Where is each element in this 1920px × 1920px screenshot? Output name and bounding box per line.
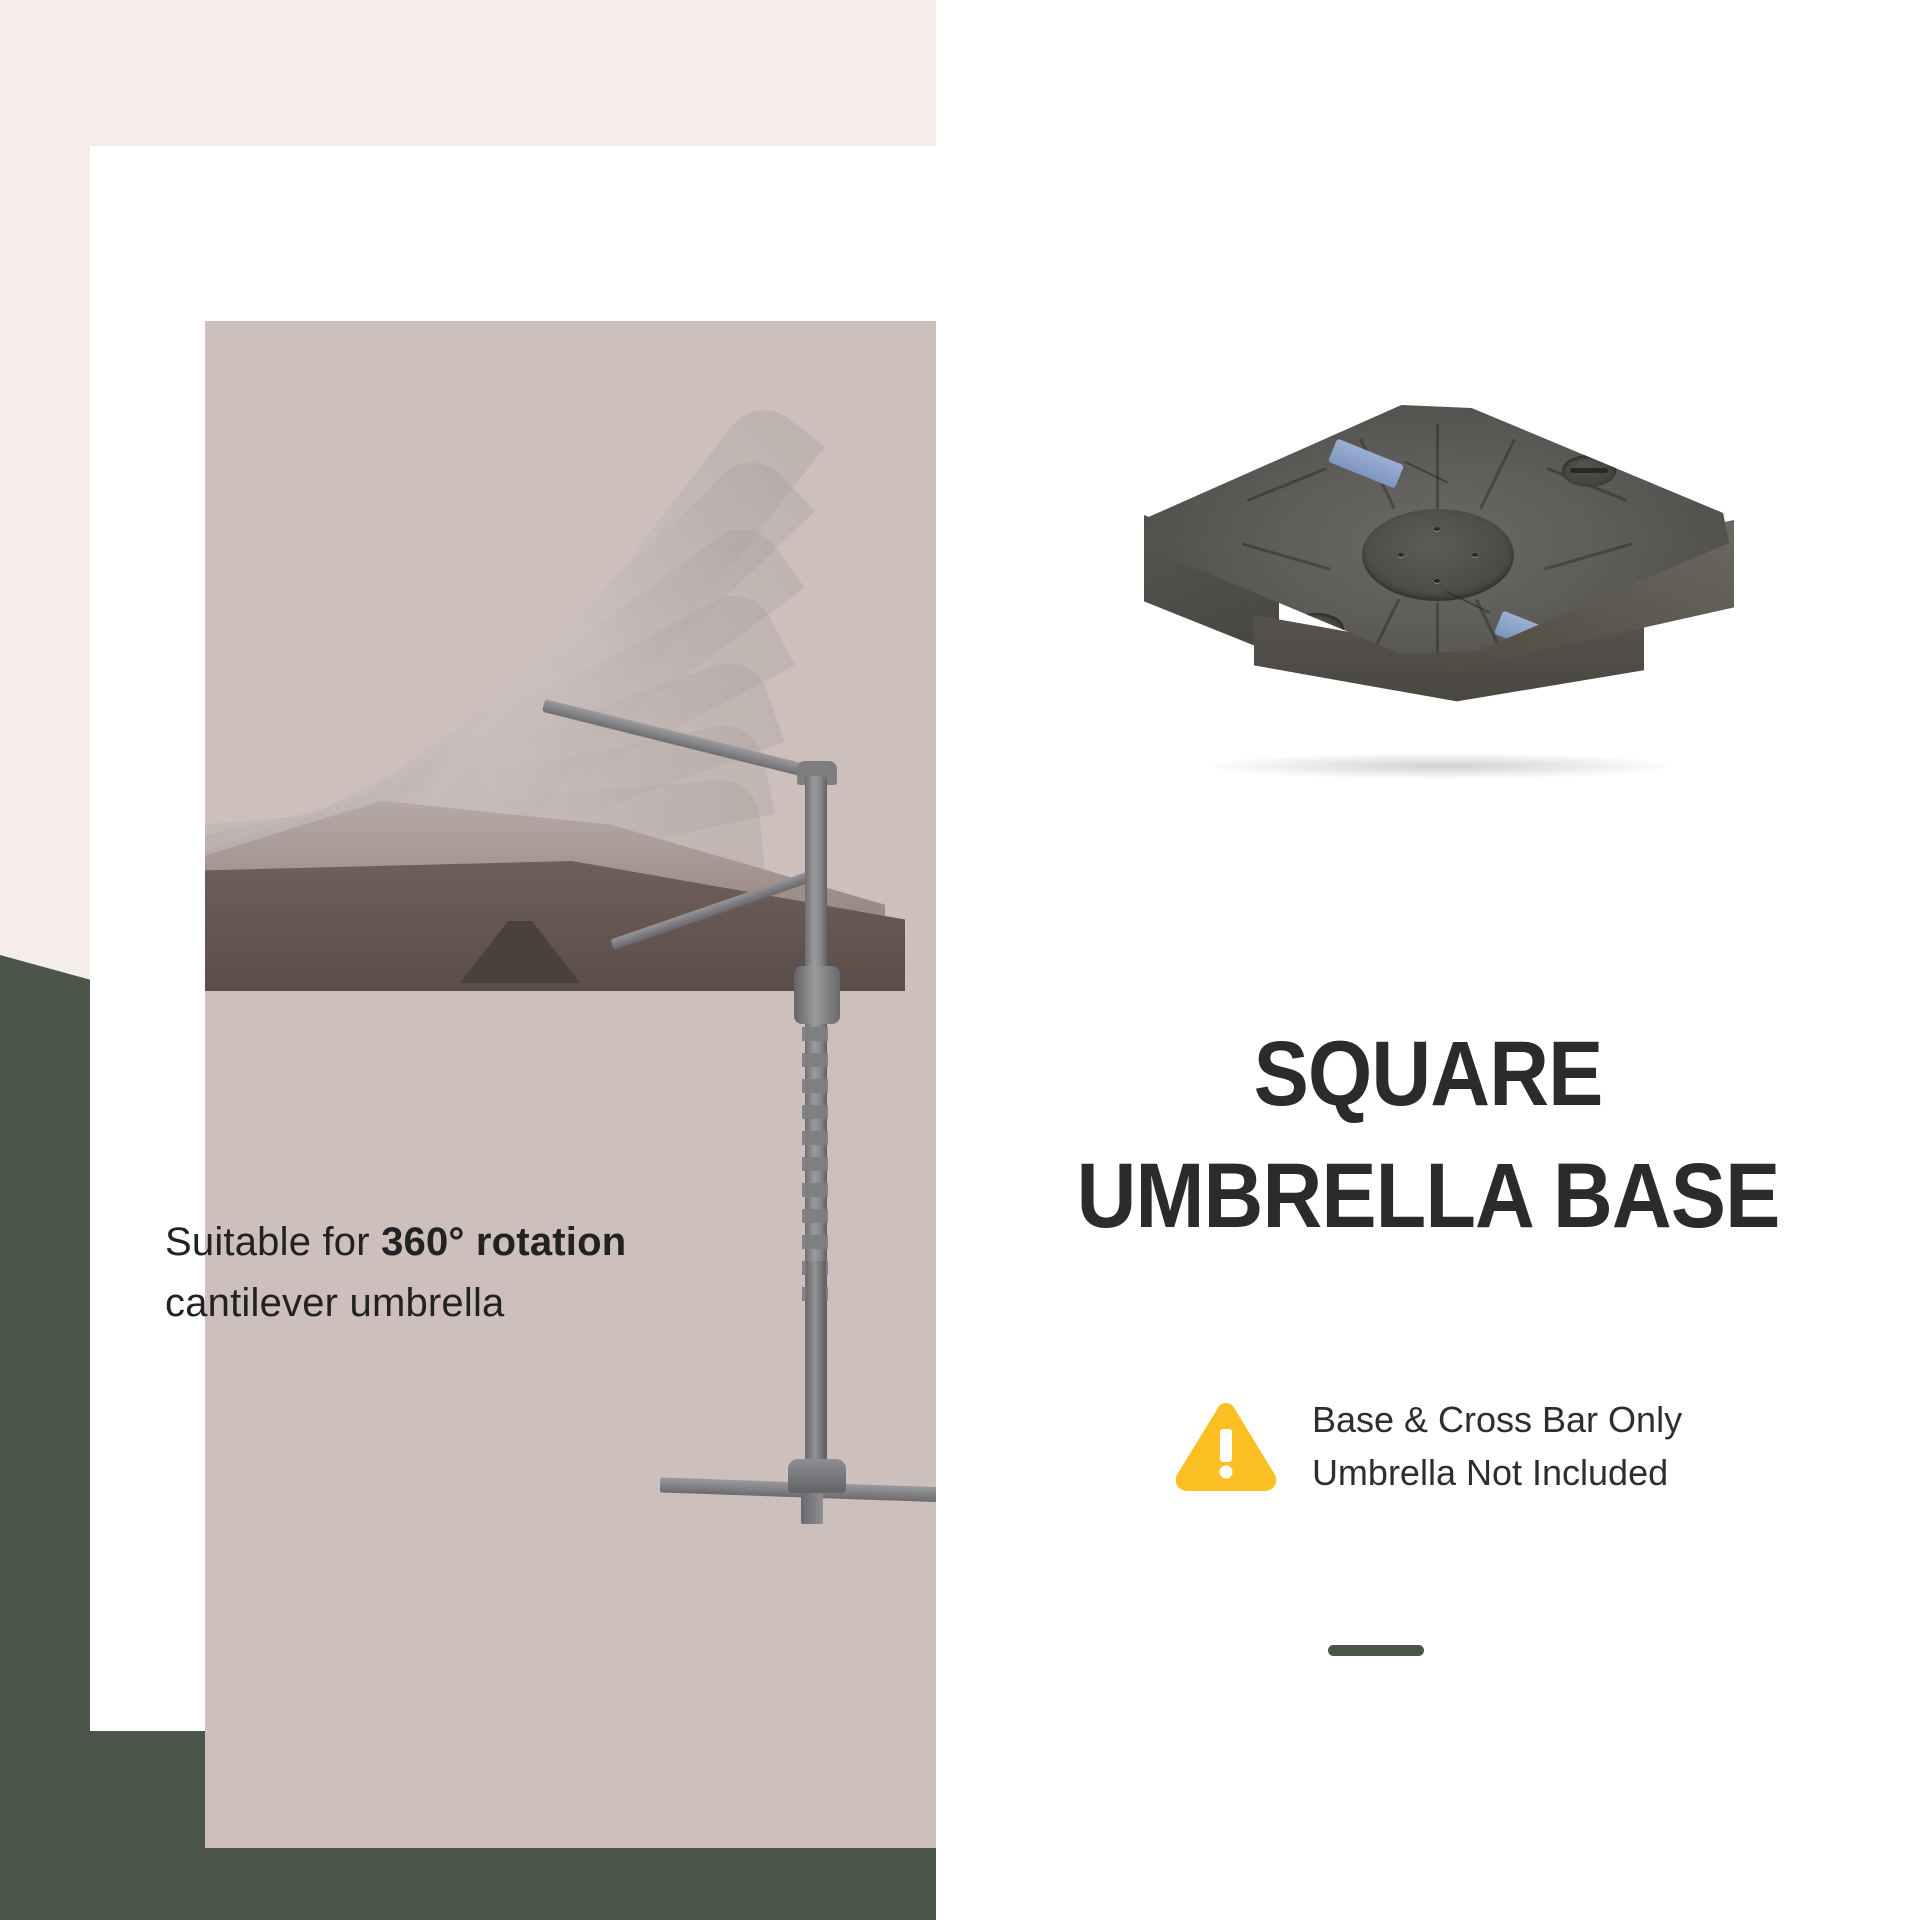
section-divider	[1328, 1645, 1424, 1656]
warning-triangle-icon	[1174, 1400, 1278, 1492]
pole-joint	[794, 966, 840, 1024]
pole-base-hub	[788, 1459, 846, 1493]
right-panel: SQUARE UMBRELLA BASE Base & Cross Bar On…	[936, 0, 1920, 1920]
center-mount-plate	[1362, 509, 1514, 601]
caption-highlight: 360° rotation	[381, 1220, 626, 1264]
product-marketing-image: Suitable for 360° rotation cantilever um…	[0, 0, 1920, 1920]
base-rib	[1543, 542, 1632, 570]
base-rib	[1241, 542, 1330, 570]
base-rib	[1247, 467, 1328, 502]
mount-hole	[1434, 579, 1440, 583]
title-line-1: SQUARE	[985, 1013, 1871, 1135]
umbrella-rotation-sequence	[205, 321, 1026, 1848]
photo-card	[90, 146, 936, 1731]
umbrella-base-body	[1144, 405, 1729, 765]
label-wire	[1404, 461, 1448, 484]
caption-line2: cantilever umbrella	[165, 1281, 505, 1325]
mount-hole	[1398, 553, 1404, 557]
page-title: SQUARE UMBRELLA BASE	[985, 1013, 1871, 1258]
umbrella-photo	[205, 321, 1026, 1848]
product-label	[1328, 438, 1404, 488]
base-rib	[1436, 423, 1439, 509]
warning-text: Base & Cross Bar Only Umbrella Not Inclu…	[1312, 1393, 1682, 1500]
warning-notice: Base & Cross Bar Only Umbrella Not Inclu…	[936, 1393, 1920, 1500]
base-rib	[1479, 438, 1516, 509]
warning-line-2: Umbrella Not Included	[1312, 1446, 1682, 1499]
mount-hole	[1472, 553, 1478, 557]
umbrella-pole-lower	[806, 1261, 826, 1476]
feature-caption: Suitable for 360° rotation cantilever um…	[165, 1212, 805, 1334]
warning-line-1: Base & Cross Bar Only	[1312, 1393, 1682, 1446]
product-image-square-umbrella-base	[1096, 385, 1776, 815]
caption-line1: Suitable for 360° rotation	[165, 1220, 626, 1264]
title-line-2: UMBRELLA BASE	[985, 1135, 1871, 1257]
mount-hole	[1434, 527, 1440, 531]
fill-cap	[1562, 455, 1616, 487]
